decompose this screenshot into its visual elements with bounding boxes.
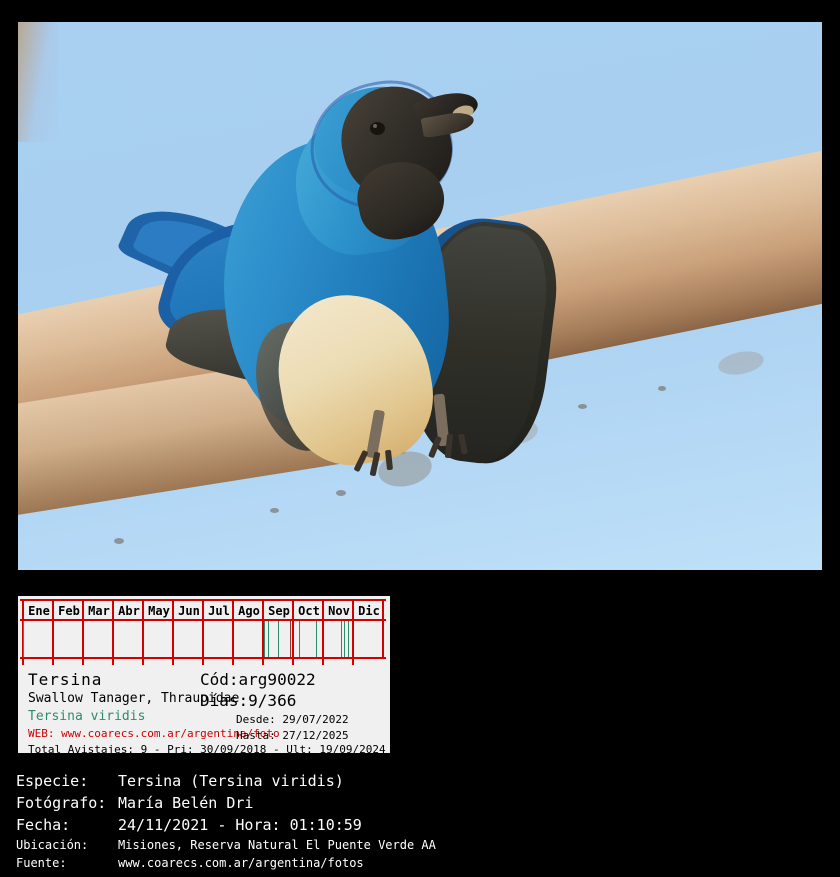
branch-mark-2 [270, 508, 279, 513]
calendar-tick-stub-may [142, 657, 144, 665]
month-label-oct: Oct [294, 603, 324, 619]
sighting-tick-2 [268, 621, 269, 657]
species-code: Cód:arg90022 [200, 670, 316, 689]
footer-label-4: Fuente: [16, 856, 67, 870]
footer-label-0: Especie: [16, 772, 88, 790]
total-sightings-line: Total Avistajes: 9 - Pri: 30/09/2018 - U… [28, 743, 386, 756]
month-label-sep: Sep [264, 603, 294, 619]
month-label-abr: Abr [114, 603, 144, 619]
sighting-tick-5 [299, 621, 300, 657]
branch-mark-3 [578, 404, 587, 409]
calendar-tick-stub-dic [352, 657, 354, 665]
metadata-footer: Especie:Tersina (Tersina viridis)Fotógra… [0, 768, 840, 877]
sighting-tick-0 [23, 621, 24, 657]
branch-mark-5 [114, 538, 124, 544]
month-label-jun: Jun [174, 603, 204, 619]
footer-value-3: Misiones, Reserva Natural El Puente Verd… [118, 838, 436, 852]
sighting-tick-4 [290, 621, 291, 657]
calendar-tick-stub-feb [52, 657, 54, 665]
sighting-tick-8 [344, 621, 345, 657]
sighting-tick-1 [264, 621, 265, 657]
month-label-feb: Feb [54, 603, 84, 619]
month-label-jul: Jul [204, 603, 234, 619]
footer-value-1: María Belén Dri [118, 794, 253, 812]
bird-eye-glint [373, 124, 377, 128]
calendar-tick-stub-ene [22, 657, 24, 665]
bird-eye [370, 122, 385, 135]
calendar-tick-stub-ago [232, 657, 234, 665]
calendar-divider-end [382, 599, 384, 659]
screenshot-root: EneFebMarAbrMayJunJulAgoSepOctNovDic Ter… [0, 0, 840, 877]
footer-value-2: 24/11/2021 - Hora: 01:10:59 [118, 816, 362, 834]
footer-value-0: Tersina (Tersina viridis) [118, 772, 344, 790]
bird-photograph [18, 22, 822, 570]
calendar-tick-stub-sep [262, 657, 264, 665]
sighting-tick-3 [278, 621, 279, 657]
sighting-tick-7 [341, 621, 342, 657]
calendar-tick-stub-nov [322, 657, 324, 665]
calendar-tick-stub-jun [172, 657, 174, 665]
days-count: Días:9/366 [200, 691, 296, 710]
calendar-tick-stub-oct [292, 657, 294, 665]
species-scientific-name: Tersina viridis [28, 709, 145, 724]
month-label-ago: Ago [234, 603, 264, 619]
calendar-grid: EneFebMarAbrMayJunJulAgoSepOctNovDic [20, 599, 386, 659]
calendar-tick-stub-abr [112, 657, 114, 665]
branch-mark-4 [658, 386, 666, 391]
branch-mark-1 [336, 490, 346, 496]
footer-label-3: Ubicación: [16, 838, 88, 852]
sighting-tick-6 [316, 621, 317, 657]
month-label-ene: Ene [24, 603, 54, 619]
species-short-name: Tersina [28, 670, 102, 689]
calendar-tick-stub-jul [202, 657, 204, 665]
month-label-mar: Mar [84, 603, 114, 619]
calendar-tick-stub-mar [82, 657, 84, 665]
month-label-nov: Nov [324, 603, 354, 619]
month-label-may: May [144, 603, 174, 619]
footer-value-4: www.coarecs.com.ar/argentina/fotos [118, 856, 364, 870]
month-label-dic: Dic [354, 603, 384, 619]
range-to: Hasta: 27/12/2025 [236, 729, 349, 742]
branch-knot-3 [716, 348, 765, 378]
footer-label-2: Fecha: [16, 816, 70, 834]
month-calendar-chart: EneFebMarAbrMayJunJulAgoSepOctNovDic [20, 599, 388, 661]
sky-haze [18, 22, 58, 142]
footer-label-1: Fotógrafo: [16, 794, 106, 812]
range-from: Desde: 29/07/2022 [236, 713, 349, 726]
sighting-calendar-panel: EneFebMarAbrMayJunJulAgoSepOctNovDic Ter… [18, 596, 390, 753]
sighting-tick-9 [348, 621, 349, 657]
